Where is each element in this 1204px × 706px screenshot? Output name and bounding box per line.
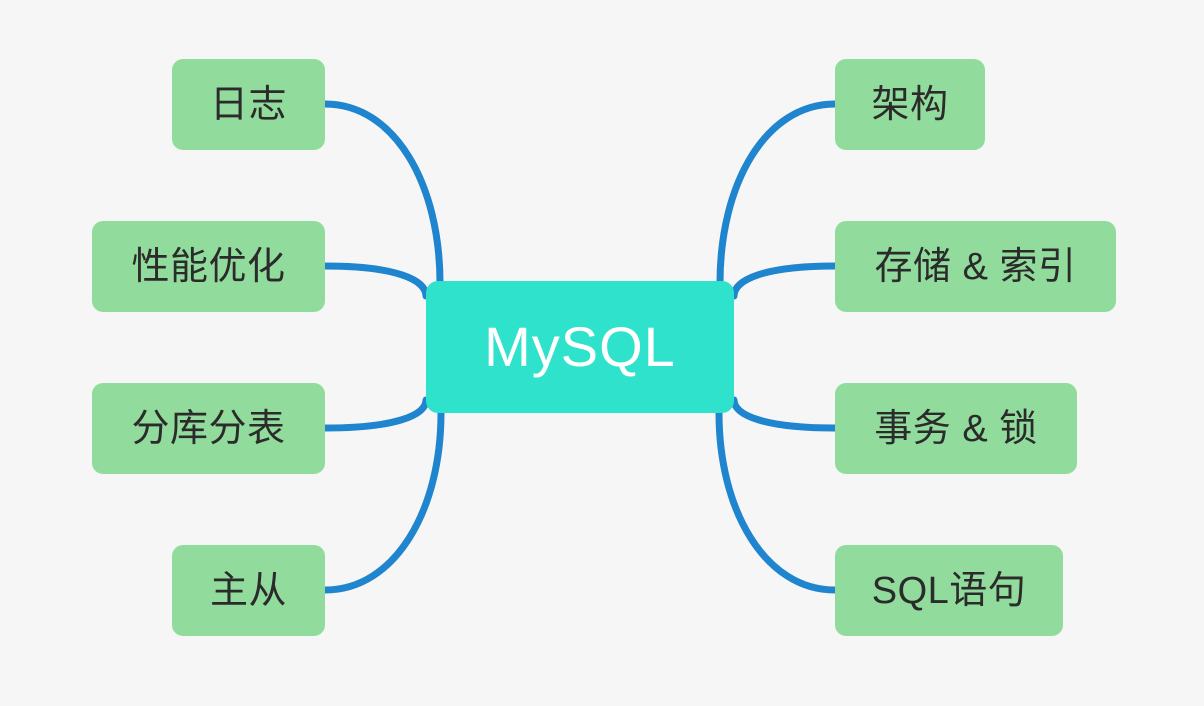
connector-transaction-lock [734, 400, 835, 428]
branch-node-label: 主从 [210, 572, 287, 610]
branch-node-transaction-lock[interactable]: 事务 & 锁 [835, 383, 1077, 474]
connector-sql-statement [719, 413, 835, 590]
mind-map-canvas: MySQL 日志性能优化分库分表主从架构存储 & 索引事务 & 锁SQL语句 [0, 0, 1204, 706]
branch-node-label: 分库分表 [131, 410, 285, 448]
connector-log [325, 104, 440, 283]
root-node-mysql[interactable]: MySQL [426, 281, 734, 413]
connector-master-slave [325, 413, 441, 590]
branch-node-label: 存储 & 索引 [875, 248, 1077, 286]
branch-node-sql-statement[interactable]: SQL语句 [835, 545, 1063, 636]
branch-node-sharding[interactable]: 分库分表 [92, 383, 325, 474]
branch-node-architecture[interactable]: 架构 [835, 59, 985, 150]
connector-storage-index [734, 266, 835, 296]
branch-node-label: 架构 [871, 86, 948, 124]
branch-node-label: 事务 & 锁 [874, 410, 1037, 448]
branch-node-log[interactable]: 日志 [172, 59, 325, 150]
branch-node-label: 日志 [210, 86, 287, 124]
branch-node-performance-optimization[interactable]: 性能优化 [92, 221, 325, 312]
branch-node-label: SQL语句 [872, 572, 1027, 610]
connector-performance-optimization [325, 266, 426, 296]
branch-node-storage-index[interactable]: 存储 & 索引 [835, 221, 1116, 312]
connector-sharding [325, 400, 426, 428]
branch-node-master-slave[interactable]: 主从 [172, 545, 325, 636]
connector-architecture [720, 104, 835, 283]
branch-node-label: 性能优化 [131, 248, 285, 286]
root-node-label: MySQL [484, 319, 676, 375]
